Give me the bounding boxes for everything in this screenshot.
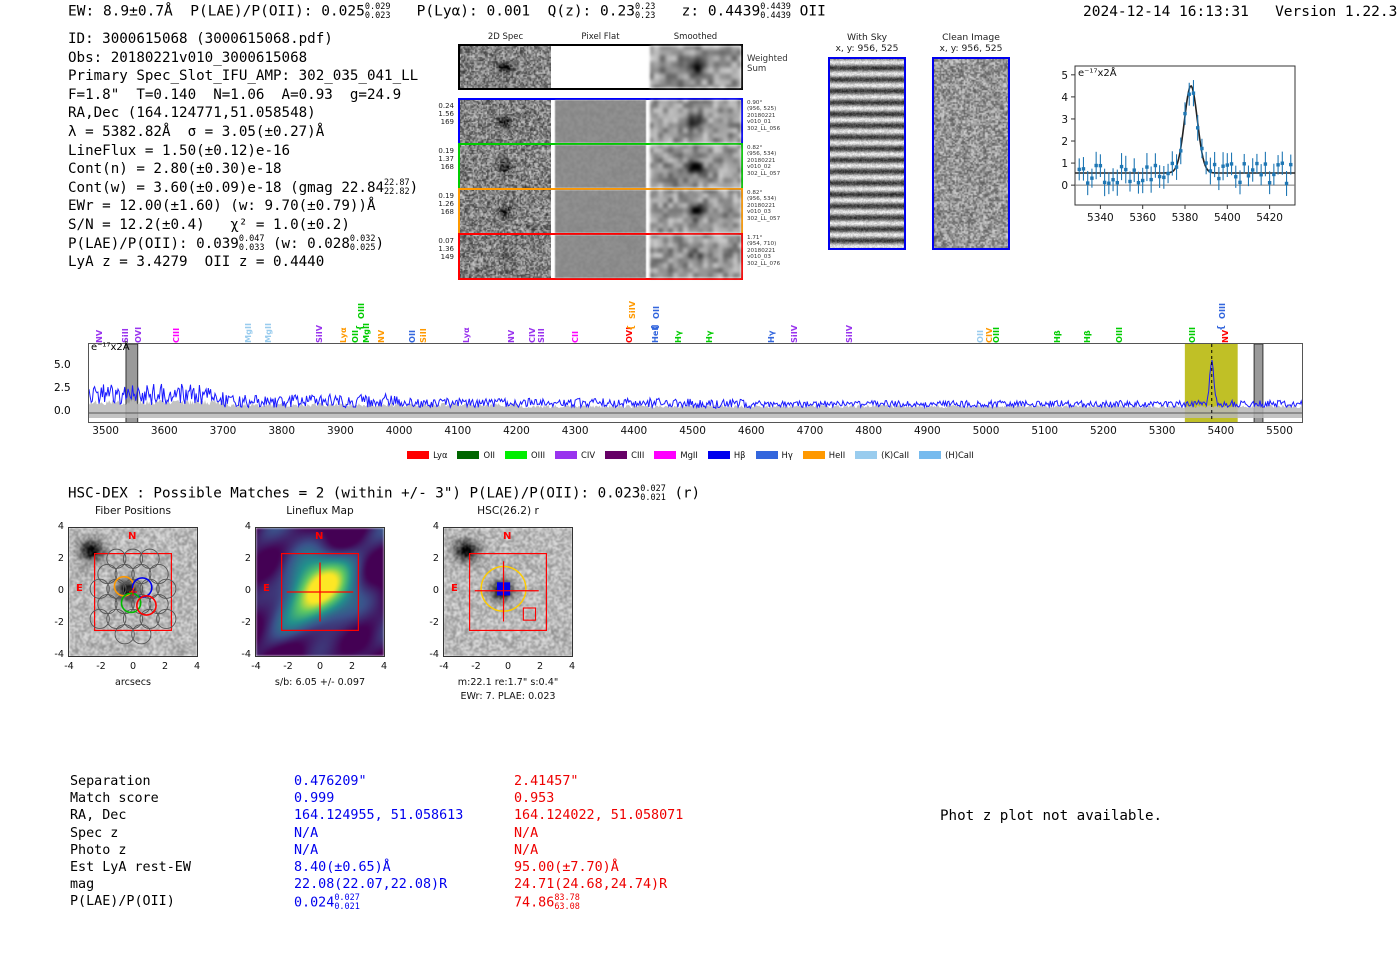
legend-label: Lyα (433, 450, 447, 460)
svg-text:5420: 5420 (1256, 212, 1283, 224)
spectrum-xtick: 3600 (151, 425, 178, 437)
table-row: Separation0.476209"2.41457" (70, 774, 683, 789)
cutout-overlay (444, 528, 572, 656)
match-cell: Est LyA rest-EW (70, 860, 292, 875)
legend-item: CIV (555, 450, 595, 460)
ew-value: 8.9±0.7Å (103, 4, 173, 20)
spectrum-legend: LyαOIIOIIICIVCIIIMgIIHβHγHeII(K)CaII(H)C… (88, 444, 1303, 463)
match-cell: 164.124955, 51.058613 (294, 808, 512, 823)
info-snr: S/N = 12.2(±0.4) χ² = 1.0(±0.2) (68, 216, 418, 235)
emission-line-label: OIII (991, 327, 1001, 343)
match-cell: Spec z (70, 826, 292, 841)
timestamp-version: 2024-12-14 16:13:31 Version 1.22.3 (1083, 4, 1397, 20)
spectrum-trace (89, 360, 1303, 408)
cutout-ytick: -2 (235, 617, 251, 628)
spectrum-xtick: 4900 (914, 425, 941, 437)
info-redshifts: LyA z = 3.4279 OII z = 0.4440 (68, 253, 418, 272)
emission-line-label: MgII (263, 323, 273, 343)
compass-east: E (76, 583, 83, 594)
info-seeing: F=1.8" T=0.140 N=1.06 A=0.93 g=24.9 (68, 86, 418, 105)
spectrum-ylabel: e⁻¹⁷x2Å (91, 342, 130, 353)
z-type: OII (800, 4, 826, 20)
twod-col-title-smoothed: Smoothed (648, 32, 743, 42)
emission-line-label: SiII (418, 328, 428, 343)
cutout-image-lineflux-map (255, 527, 385, 657)
z-label: z: (682, 4, 699, 20)
legend-label: (K)CaII (881, 450, 909, 460)
emission-line-label: OVI (133, 327, 143, 343)
cutout-image-hsc-r (443, 527, 573, 657)
spectrum-xtick: 5400 (1207, 425, 1234, 437)
match-cell: N/A (294, 843, 512, 858)
legend-swatch (708, 451, 730, 459)
emission-line-label: SiII (120, 328, 130, 343)
cutout-xtick: -4 (437, 661, 451, 672)
spectrum-xtick: 4700 (797, 425, 824, 437)
legend-item: Hβ (708, 450, 746, 460)
legend-label: CIII (631, 450, 644, 460)
legend-swatch (605, 451, 627, 459)
match-cell: 95.00(±7.70)Å (514, 860, 683, 875)
emission-line-label: OIII (1217, 303, 1227, 319)
match-cell: Photo z (70, 843, 292, 858)
timestamp-value: 2024-12-14 16:13:31 (1083, 4, 1249, 20)
info-primary-spec: Primary Spec_Slot_IFU_AMP: 302_035_041_L… (68, 67, 418, 86)
emission-line-label: OIII (1187, 327, 1197, 343)
plya-value: 0.001 (487, 4, 531, 20)
table-row: RA, Dec164.124955, 51.058613164.124022, … (70, 808, 683, 823)
match-table: Separation0.476209"2.41457"Match score0.… (68, 772, 685, 913)
match-cell: 2.41457" (514, 774, 683, 789)
match-cell: P(LAE)/P(OII) (70, 894, 292, 911)
twod-strip-stats: 0.071.36149 (424, 237, 454, 262)
spectrum-xtick: 3500 (92, 425, 119, 437)
emission-line-label: OIII (1114, 327, 1124, 343)
legend-item: (H)CaII (919, 450, 974, 460)
hsc-plae-bounds: 0.0270.021 (640, 485, 666, 502)
svg-text:0: 0 (1061, 180, 1068, 192)
cutout-xtick: 4 (377, 661, 391, 672)
table-row: Match score0.9990.953 (70, 791, 683, 806)
svg-text:5: 5 (1061, 70, 1068, 82)
legend-label: OII (483, 450, 495, 460)
match-cell: N/A (294, 826, 512, 841)
spectrum-xtick: 4600 (738, 425, 765, 437)
cutout-xtick: 0 (313, 661, 327, 672)
match-cell: 0.999 (294, 791, 512, 806)
cutout-ytick: 4 (235, 521, 251, 532)
emission-line-label: MgII (243, 323, 253, 343)
cutout-xtick: 2 (533, 661, 547, 672)
svg-text:5380: 5380 (1172, 212, 1199, 224)
cutout-ytick: -4 (48, 649, 64, 660)
info-id: ID: 3000615068 (3000615068.pdf) (68, 30, 418, 49)
legend-label: Hβ (734, 450, 746, 460)
legend-swatch (407, 451, 429, 459)
emission-line-label: MgII (361, 323, 371, 343)
emission-line-label: OII (407, 330, 417, 343)
twod-spec-panels: 2D Spec Pixel Flat Smoothed Weighted Sum… (458, 32, 758, 280)
plae-value: 0.025 (321, 4, 365, 20)
cutout-xtick: 0 (126, 661, 140, 672)
twod-strip-stats: 0.191.37168 (424, 147, 454, 172)
emission-line-label: Lyα (338, 327, 348, 343)
spectrum-ytick: 2.5 (54, 382, 71, 394)
info-obs: Obs: 20180221v010_3000615068 (68, 49, 418, 68)
cutout-xtick: 2 (345, 661, 359, 672)
spectrum-xtick: 4100 (444, 425, 471, 437)
info-cont-n: Cont(n) = 2.80(±0.30)e-18 (68, 160, 418, 179)
hsc-matches-text: HSC-DEX : Possible Matches = 2 (within +… (68, 486, 640, 502)
legend-swatch (855, 451, 877, 459)
info-lineflux: LineFlux = 1.50(±0.12)e-16 (68, 142, 418, 161)
twod-fiber-strip (458, 233, 743, 280)
cutout-ytick: 4 (48, 521, 64, 532)
cutout-xtick: -4 (249, 661, 263, 672)
legend-item: OII (457, 450, 495, 460)
info-ewr: EWr = 12.00(±1.60) (w: 9.70(±0.79))Å (68, 197, 418, 216)
match-cell: N/A (514, 843, 683, 858)
legend-item: MgII (654, 450, 697, 460)
cutout-overlay (69, 528, 197, 656)
match-cell: 0.953 (514, 791, 683, 806)
z-value: 0.4439 (708, 4, 760, 20)
cutout-ytick: -2 (423, 617, 439, 628)
emission-line-label: Hβ (1052, 330, 1062, 343)
match-cell: 0.476209" (294, 774, 512, 789)
header-summary-line: EW: 8.9±0.7Å P(LAE)/P(OII): 0.0250.0290.… (68, 3, 826, 20)
qz-value: 0.23 (600, 4, 635, 20)
legend-label: MgII (680, 450, 697, 460)
table-row: Spec zN/AN/A (70, 826, 683, 841)
qz-bounds: 0.230.23 (635, 3, 655, 20)
spectrum-xtick: 5300 (1149, 425, 1176, 437)
emission-line-label: Hβ (1082, 330, 1092, 343)
match-cell: mag (70, 877, 292, 892)
cutout-ytick: 0 (48, 585, 64, 596)
match-cell: 0.0240.0270.021 (294, 894, 512, 911)
cutout-ytick: -4 (423, 649, 439, 660)
emission-line-bracket: { (627, 325, 637, 331)
match-cell: Separation (70, 774, 292, 789)
cutout-caption: m:22.1 re:1.7" s:0.4" (413, 677, 603, 688)
hsc-filter: (r) (674, 486, 700, 502)
legend-label: (H)CaII (945, 450, 974, 460)
emission-line-label: NV (376, 330, 386, 343)
info-lambda: λ = 5382.82Å σ = 3.05(±0.27)Å (68, 123, 418, 142)
svg-text:3: 3 (1061, 114, 1068, 126)
svg-text:2: 2 (1061, 136, 1068, 148)
cutout-xtick: 4 (565, 661, 579, 672)
emission-line-label: SiIV (844, 325, 854, 343)
ew-label: EW: (68, 4, 94, 20)
cutout-ytick: -4 (235, 649, 251, 660)
spectrum-xtick: 4300 (562, 425, 589, 437)
legend-label: HeII (829, 450, 845, 460)
emission-line-label: SiII (536, 328, 546, 343)
emission-line-zoom-plot: 01234553405360538054005420e⁻¹⁷x2Å (1035, 50, 1303, 235)
legend-swatch (457, 451, 479, 459)
twod-strip-stats: 0.241.56169 (424, 102, 454, 127)
cutout-overlay (256, 528, 384, 656)
table-row: mag22.08(22.07,22.08)R24.71(24.68,24.74)… (70, 877, 683, 892)
spectrum-ytick: 0.0 (54, 405, 71, 417)
cutout-caption-secondary: EWr: 7. PLAE: 0.023 (413, 691, 603, 702)
with-sky-image (828, 57, 906, 250)
table-row: Photo zN/AN/A (70, 843, 683, 858)
legend-item: OIII (505, 450, 545, 460)
cutout-image-fiber-positions (68, 527, 198, 657)
qz-label: Q(z): (548, 4, 592, 20)
match-cell: 164.124022, 51.058071 (514, 808, 683, 823)
cutout-caption: s/b: 6.05 +/- 0.097 (225, 677, 415, 688)
legend-swatch (803, 451, 825, 459)
spectrum-ytick: 5.0 (54, 359, 71, 371)
info-cont-w: Cont(w) = 3.60(±0.09)e-18 (gmag 22.8422.… (68, 179, 418, 198)
photz-unavailable-message: Phot z plot not available. (940, 808, 1162, 824)
spectrum-xtick: 4800 (855, 425, 882, 437)
emission-line-label: OII (651, 306, 661, 319)
match-cell: Match score (70, 791, 292, 806)
compass-east: E (263, 583, 270, 594)
emission-line-label: CII (570, 331, 580, 343)
cutout-xtick: 2 (158, 661, 172, 672)
legend-item: (K)CaII (855, 450, 909, 460)
emission-line-label: Hγ (673, 331, 683, 343)
plae-bounds: 0.0290.023 (365, 3, 391, 20)
spectrum-axes (88, 343, 1303, 423)
legend-swatch (756, 451, 778, 459)
spectrum-xtick: 5200 (1090, 425, 1117, 437)
compass-north: N (503, 531, 511, 542)
compass-east: E (451, 583, 458, 594)
cutout-ytick: 2 (423, 553, 439, 564)
twod-col-title-pixelflat: Pixel Flat (553, 32, 648, 42)
spectrum-xtick: 5100 (1031, 425, 1058, 437)
emission-line-label: SiIV (627, 301, 637, 319)
spectrum-xtick: 3800 (268, 425, 295, 437)
table-row: P(LAE)/P(OII)0.0240.0270.02174.8683.7863… (70, 894, 683, 911)
emission-line-label: Hγ (766, 331, 776, 343)
source-info-block: ID: 3000615068 (3000615068.pdf) Obs: 201… (68, 30, 418, 272)
match-cell: 74.8683.7863.08 (514, 894, 683, 911)
table-row: Est LyA rest-EW8.40(±0.65)Å95.00(±7.70)Å (70, 860, 683, 875)
match-cell: 24.71(24.68,24.74)R (514, 877, 683, 892)
spectrum-xtick: 4400 (620, 425, 647, 437)
spectrum-error-band (89, 400, 1303, 419)
match-cell: RA, Dec (70, 808, 292, 823)
cutout-ytick: 4 (423, 521, 439, 532)
twod-strip-stats: 0.191.26168 (424, 192, 454, 217)
cutout-xtick: -2 (281, 661, 295, 672)
twod-strip-meta: 1.71°(954, 710)20180221v010_03302_LL_076 (747, 235, 780, 267)
plya-label: P(Lyα): (417, 4, 478, 20)
weighted-sum-label: Weighted Sum (747, 54, 788, 74)
svg-text:4: 4 (1061, 92, 1068, 104)
match-cell: N/A (514, 826, 683, 841)
emission-line-label: NV (1220, 330, 1230, 343)
emission-line-label: OII (350, 330, 360, 343)
cutout-panels: Fiber PositionsNE420-2-4-4-2024arcsecsLi… (0, 505, 700, 725)
spectrum-xtick: 3700 (210, 425, 237, 437)
legend-item: Hγ (756, 450, 793, 460)
compass-north: N (315, 531, 323, 542)
twod-strip-meta: 0.82°(956, 534)20180221v010_03302_LL_057 (747, 190, 780, 222)
info-plae: P(LAE)/P(OII): 0.0390.0470.033 (w: 0.028… (68, 235, 418, 254)
legend-label: CIV (581, 450, 595, 460)
svg-text:5340: 5340 (1087, 212, 1114, 224)
twod-fiber-strip (458, 143, 743, 190)
legend-item: Lyα (407, 450, 447, 460)
legend-item: CIII (605, 450, 644, 460)
emission-line-label: SiIV (314, 325, 324, 343)
cutout-title: Fiber Positions (48, 505, 218, 517)
cutout-ytick: 2 (235, 553, 251, 564)
compass-north: N (128, 531, 136, 542)
z-bounds: 0.44390.4439 (760, 3, 791, 20)
emission-line-label: OIII (356, 303, 366, 319)
legend-swatch (555, 451, 577, 459)
emission-line-label: Hγ (704, 331, 714, 343)
cutout-ytick: 2 (48, 553, 64, 564)
legend-swatch (505, 451, 527, 459)
clean-image (932, 57, 1010, 250)
sky-image-title: Clean Imagex, y: 956, 525 (932, 32, 1010, 54)
twod-strip-meta: 0.90°(956, 525)20180221v010_01302_LL_056 (747, 100, 780, 132)
cutout-ytick: 0 (235, 585, 251, 596)
legend-label: Hγ (782, 450, 793, 460)
emission-line-label: SiIV (789, 325, 799, 343)
match-cell: 8.40(±0.65)Å (294, 860, 512, 875)
twod-strip-meta: 0.82°(956, 534)20180221v010_02302_LL_057 (747, 145, 780, 177)
zoom-plot-svg: 01234553405360538054005420e⁻¹⁷x2Å (1035, 50, 1303, 235)
cutout-xtick: 4 (190, 661, 204, 672)
cutout-caption: arcsecs (38, 677, 228, 688)
info-radec: RA,Dec (164.124771,51.058548) (68, 104, 418, 123)
cutout-title: Lineflux Map (235, 505, 405, 517)
twod-col-title-2dspec: 2D Spec (458, 32, 553, 42)
cutout-xtick: -4 (62, 661, 76, 672)
version-value: Version 1.22.3 (1275, 4, 1397, 20)
cutout-xtick: -2 (469, 661, 483, 672)
full-spectrum-plot: NV{SiII{OVI{CIII{MgII{MgII{SiIV{Lyα{OII{… (88, 285, 1303, 463)
cutout-xtick: 0 (501, 661, 515, 672)
cutout-title: HSC(26.2) r (423, 505, 593, 517)
spectrum-xtick: 5000 (973, 425, 1000, 437)
svg-text:5400: 5400 (1214, 212, 1241, 224)
spectrum-xtick: 4500 (679, 425, 706, 437)
cutout-ytick: 0 (423, 585, 439, 596)
legend-swatch (919, 451, 941, 459)
spectrum-xtick: 4000 (386, 425, 413, 437)
twod-fiber-strip (458, 98, 743, 145)
svg-text:5360: 5360 (1129, 212, 1156, 224)
hsc-dex-header: HSC-DEX : Possible Matches = 2 (within +… (68, 485, 700, 502)
svg-text:1: 1 (1061, 158, 1068, 170)
twod-weighted-sum-strip (458, 44, 743, 90)
emission-line-label: CIII (171, 328, 181, 343)
svg-text:e⁻¹⁷x2Å: e⁻¹⁷x2Å (1078, 66, 1117, 79)
legend-swatch (654, 451, 676, 459)
spectrum-xtick: 3900 (327, 425, 354, 437)
emission-line-label: Lyα (461, 327, 471, 343)
cutout-xtick: -2 (94, 661, 108, 672)
plae-label: P(LAE)/P(OII): (190, 4, 312, 20)
sky-image-title: With Skyx, y: 956, 525 (828, 32, 906, 54)
twod-fiber-strip (458, 188, 743, 235)
emission-line-label: NV (506, 330, 516, 343)
cutout-ytick: -2 (48, 617, 64, 628)
legend-label: OIII (531, 450, 545, 460)
emission-line-bracket: { (651, 325, 661, 331)
spectrum-xtick: 4200 (503, 425, 530, 437)
spectrum-xtick: 5500 (1266, 425, 1293, 437)
legend-item: HeII (803, 450, 845, 460)
match-cell: 22.08(22.07,22.08)R (294, 877, 512, 892)
